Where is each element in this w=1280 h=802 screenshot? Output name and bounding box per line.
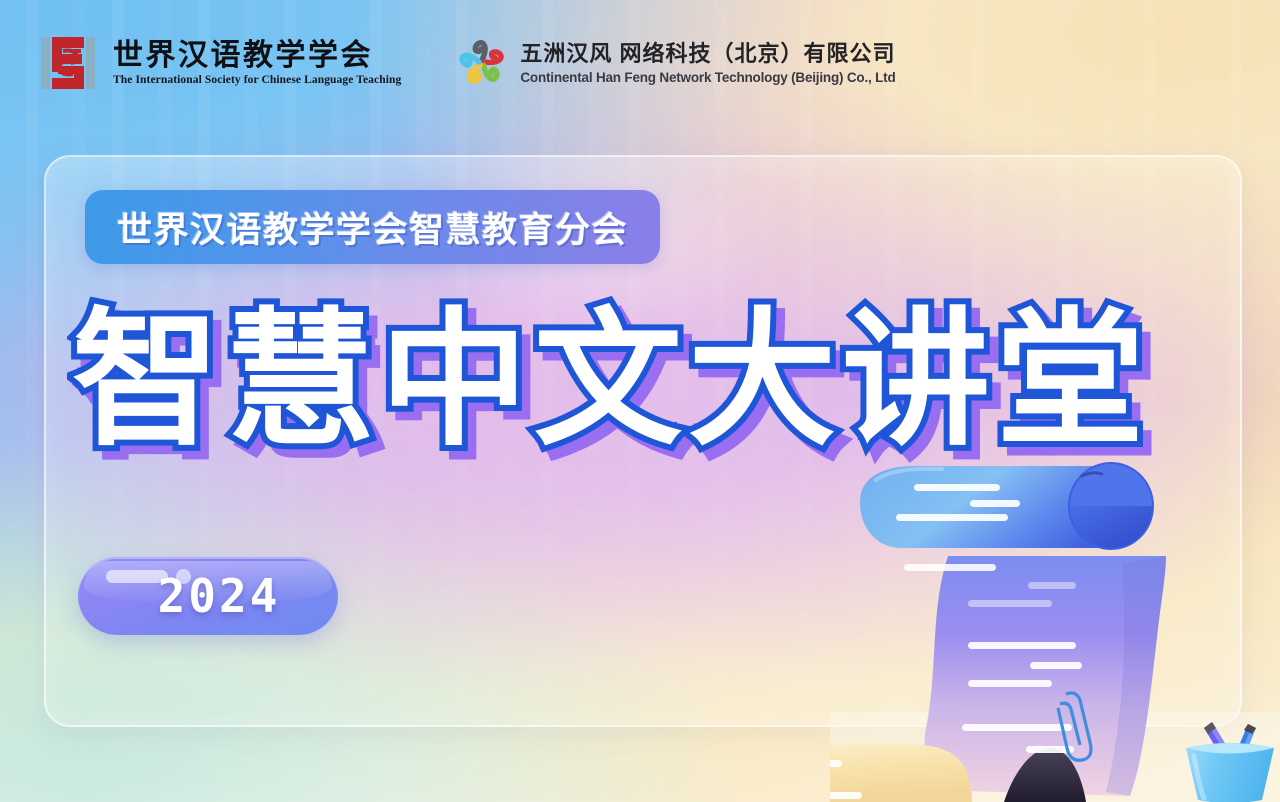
logo-chf-name-en: Continental Han Feng Network Technology … bbox=[520, 70, 895, 85]
banner-stage: 世界汉语教学学会 The International Society for C… bbox=[0, 0, 1280, 802]
logo-chf-text-block: 五洲汉风 网络科技（北京）有限公司 Continental Han Feng N… bbox=[520, 41, 895, 84]
main-title: 智慧中文大讲堂 智慧中文大讲堂 智慧中文大讲堂 bbox=[72, 288, 1212, 473]
year-badge: 2024 bbox=[78, 557, 338, 635]
year-badge-text: 2024 bbox=[78, 557, 338, 635]
pinwheel-swirl-logo-icon bbox=[455, 38, 509, 88]
header-logos: 世界汉语教学学会 The International Society for C… bbox=[0, 0, 1280, 126]
logo-chf-name-cn: 五洲汉风 网络科技（北京）有限公司 bbox=[520, 41, 895, 66]
iscl-seal-logo-icon bbox=[36, 33, 100, 93]
logo-iscl: 世界汉语教学学会 The International Society for C… bbox=[36, 33, 401, 93]
logo-iscl-name-cn: 世界汉语教学学会 bbox=[113, 40, 401, 72]
logo-iscl-name-en: The International Society for Chinese La… bbox=[113, 74, 401, 86]
pencil-cup bbox=[1182, 706, 1278, 802]
logo-iscl-text-block: 世界汉语教学学会 The International Society for C… bbox=[113, 40, 401, 86]
subtitle-text: 世界汉语教学学会智慧教育分会 bbox=[117, 202, 628, 253]
subtitle-pill: 世界汉语教学学会智慧教育分会 bbox=[85, 190, 660, 264]
main-title-fill-layer: 智慧中文大讲堂 bbox=[72, 288, 1212, 473]
logo-chf: 五洲汉风 网络科技（北京）有限公司 Continental Han Feng N… bbox=[455, 38, 895, 88]
